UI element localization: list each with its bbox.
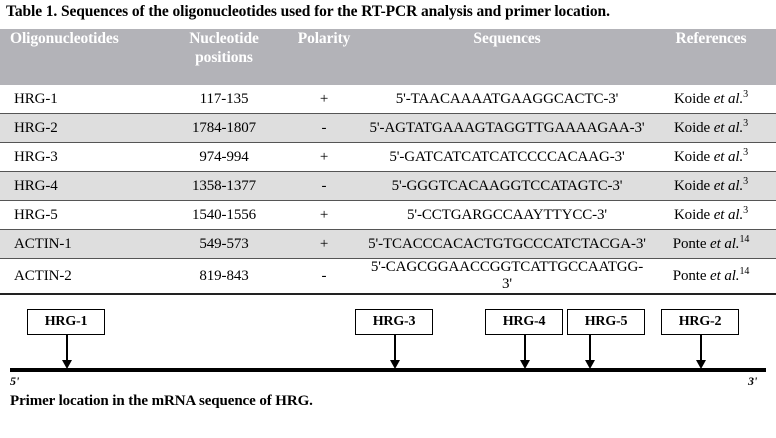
oligonucleotide-table: Oligonucleotides Nucleotide positions Po… bbox=[0, 29, 776, 295]
primer-box-hrg-1: HRG-1 bbox=[27, 309, 105, 335]
cell-position: 117-135 bbox=[168, 85, 280, 114]
cell-polarity: - bbox=[280, 259, 368, 295]
cell-reference: Koide et al.3 bbox=[646, 114, 776, 143]
cell-oligonucleotide: HRG-2 bbox=[0, 114, 168, 143]
cell-position: 549-573 bbox=[168, 230, 280, 259]
cell-oligonucleotide: ACTIN-1 bbox=[0, 230, 168, 259]
cell-polarity: + bbox=[280, 201, 368, 230]
reference-superscript: 3 bbox=[743, 89, 748, 100]
reference-etal: et al. bbox=[714, 91, 743, 107]
cell-oligonucleotide: HRG-5 bbox=[0, 201, 168, 230]
axis-label-3-prime: 3' bbox=[748, 374, 757, 389]
reference-etal: et al. bbox=[710, 268, 739, 284]
cell-sequence: 5'-TAACAAAATGAAGGCACTC-3' bbox=[368, 85, 646, 114]
table-row: HRG-2 1784-1807 - 5'-AGTATGAAAGTAGGTTGAA… bbox=[0, 114, 776, 143]
primer-arrow-hrg-2 bbox=[700, 335, 702, 361]
table-header-row: Oligonucleotides Nucleotide positions Po… bbox=[0, 29, 776, 85]
reference-superscript: 14 bbox=[739, 234, 749, 245]
reference-etal: et al. bbox=[714, 178, 743, 194]
table-figure-page: Table 1. Sequences of the oligonucleotid… bbox=[0, 0, 776, 438]
cell-polarity: - bbox=[280, 114, 368, 143]
cell-polarity: + bbox=[280, 143, 368, 172]
column-header-references: References bbox=[646, 29, 776, 85]
page-title: Table 1. Sequences of the oligonucleotid… bbox=[6, 2, 772, 22]
table-body: HRG-1 117-135 + 5'-TAACAAAATGAAGGCACTC-3… bbox=[0, 85, 776, 294]
reference-etal: et al. bbox=[714, 120, 743, 136]
cell-polarity: - bbox=[280, 172, 368, 201]
reference-superscript: 3 bbox=[743, 205, 748, 216]
primer-box-hrg-4: HRG-4 bbox=[485, 309, 563, 335]
reference-author: Ponte bbox=[673, 236, 710, 252]
cell-sequence: 5'-CCTGARGCCAAYTTYCC-3' bbox=[368, 201, 646, 230]
mrna-axis-line bbox=[10, 368, 766, 372]
table-row: HRG-4 1358-1377 - 5'-GGGTCACAAGGTCCATAGT… bbox=[0, 172, 776, 201]
primer-arrow-hrg-4 bbox=[524, 335, 526, 361]
reference-author: Koide bbox=[674, 178, 714, 194]
column-header-nucleotide-positions-line2: positions bbox=[195, 49, 253, 66]
axis-label-5-prime: 5' bbox=[10, 374, 19, 389]
cell-sequence: 5'-GATCATCATCATCCCCACAAG-3' bbox=[368, 143, 646, 172]
cell-reference: Koide et al.3 bbox=[646, 85, 776, 114]
cell-polarity: + bbox=[280, 85, 368, 114]
cell-reference: Koide et al.3 bbox=[646, 143, 776, 172]
column-header-nucleotide-positions: Nucleotide positions bbox=[168, 29, 280, 85]
cell-position: 1358-1377 bbox=[168, 172, 280, 201]
cell-sequence: 5'-TCACCCACACTGTGCCCATCTACGA-3' bbox=[368, 230, 646, 259]
cell-sequence: 5'-AGTATGAAAGTAGGTTGAAAAGAA-3' bbox=[368, 114, 646, 143]
cell-reference: Koide et al.3 bbox=[646, 201, 776, 230]
cell-oligonucleotide: HRG-4 bbox=[0, 172, 168, 201]
reference-author: Koide bbox=[674, 207, 714, 223]
cell-oligonucleotide: ACTIN-2 bbox=[0, 259, 168, 295]
reference-author: Koide bbox=[674, 91, 714, 107]
primer-box-hrg-3: HRG-3 bbox=[355, 309, 433, 335]
primer-location-diagram: HRG-1 HRG-3 HRG-4 HRG-5 HRG-2 5' 3' Prim… bbox=[0, 298, 776, 438]
cell-position: 1784-1807 bbox=[168, 114, 280, 143]
cell-polarity: + bbox=[280, 230, 368, 259]
cell-position: 1540-1556 bbox=[168, 201, 280, 230]
primer-arrow-hrg-5 bbox=[589, 335, 591, 361]
cell-sequence: 5'-CAGCGGAACCGGTCATTGCCAATGG-3' bbox=[368, 259, 646, 295]
table-row: ACTIN-1 549-573 + 5'-TCACCCACACTGTGCCCAT… bbox=[0, 230, 776, 259]
cell-position: 974-994 bbox=[168, 143, 280, 172]
table-row: HRG-3 974-994 + 5'-GATCATCATCATCCCCACAAG… bbox=[0, 143, 776, 172]
reference-author: Ponte bbox=[673, 268, 710, 284]
diagram-caption: Primer location in the mRNA sequence of … bbox=[10, 393, 313, 410]
primer-arrow-hrg-3 bbox=[394, 335, 396, 361]
column-header-polarity: Polarity bbox=[280, 29, 368, 85]
reference-author: Koide bbox=[674, 120, 714, 136]
table-row: HRG-5 1540-1556 + 5'-CCTGARGCCAAYTTYCC-3… bbox=[0, 201, 776, 230]
cell-reference: Koide et al.3 bbox=[646, 172, 776, 201]
column-header-oligonucleotides: Oligonucleotides bbox=[0, 29, 168, 85]
table-row: ACTIN-2 819-843 - 5'-CAGCGGAACCGGTCATTGC… bbox=[0, 259, 776, 295]
cell-oligonucleotide: HRG-1 bbox=[0, 85, 168, 114]
column-header-nucleotide-positions-line1: Nucleotide bbox=[189, 30, 259, 47]
reference-author: Koide bbox=[674, 149, 714, 165]
cell-reference: Ponte et al.14 bbox=[646, 230, 776, 259]
table-header: Oligonucleotides Nucleotide positions Po… bbox=[0, 29, 776, 85]
cell-reference: Ponte et al.14 bbox=[646, 259, 776, 295]
reference-superscript: 14 bbox=[739, 266, 749, 277]
reference-etal: et al. bbox=[710, 236, 739, 252]
primer-box-hrg-5: HRG-5 bbox=[567, 309, 645, 335]
primer-box-hrg-2: HRG-2 bbox=[661, 309, 739, 335]
reference-superscript: 3 bbox=[743, 176, 748, 187]
reference-superscript: 3 bbox=[743, 118, 748, 129]
reference-etal: et al. bbox=[714, 207, 743, 223]
cell-position: 819-843 bbox=[168, 259, 280, 295]
reference-etal: et al. bbox=[714, 149, 743, 165]
primer-arrow-hrg-1 bbox=[66, 335, 68, 361]
cell-oligonucleotide: HRG-3 bbox=[0, 143, 168, 172]
column-header-sequences: Sequences bbox=[368, 29, 646, 85]
reference-superscript: 3 bbox=[743, 147, 748, 158]
table-row: HRG-1 117-135 + 5'-TAACAAAATGAAGGCACTC-3… bbox=[0, 85, 776, 114]
cell-sequence: 5'-GGGTCACAAGGTCCATAGTC-3' bbox=[368, 172, 646, 201]
